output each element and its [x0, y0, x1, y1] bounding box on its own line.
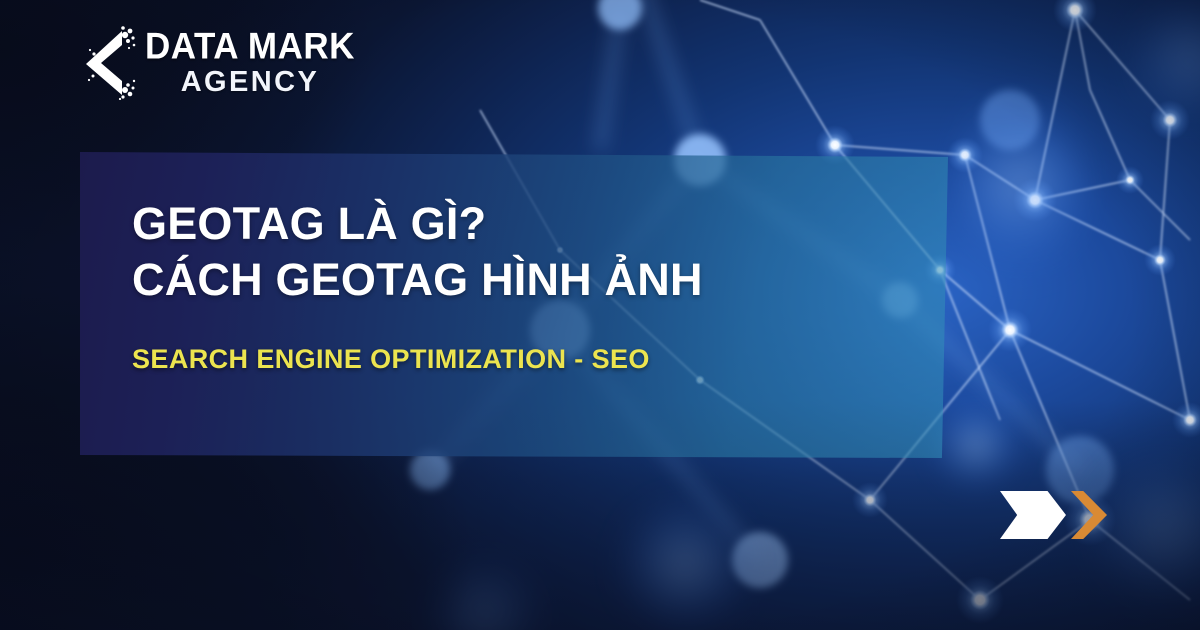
title-line-2: CÁCH GEOTAG HÌNH ẢNH — [132, 252, 918, 308]
title-line-1: GEOTAG LÀ GÌ? — [132, 196, 918, 252]
brand-text: DATA MARK AGENCY — [145, 29, 355, 97]
brand-subname: AGENCY — [181, 68, 319, 97]
headline-panel: GEOTAG LÀ GÌ? CÁCH GEOTAG HÌNH ẢNH SEARC… — [80, 152, 948, 458]
page-title: GEOTAG LÀ GÌ? CÁCH GEOTAG HÌNH ẢNH — [132, 196, 918, 308]
brand-logo[interactable]: DATA MARK AGENCY — [78, 26, 355, 100]
page-subtitle: SEARCH ENGINE OPTIMIZATION - SEO — [132, 344, 918, 375]
headline-panel-content: GEOTAG LÀ GÌ? CÁCH GEOTAG HÌNH ẢNH SEARC… — [132, 196, 918, 375]
brand-name: DATA MARK — [145, 28, 355, 65]
double-chevron-right-icon — [1071, 491, 1107, 539]
seo-banner: DATA MARK AGENCY GEOTAG LÀ GÌ? CÁCH GEOT… — [0, 0, 1200, 630]
chevron-particles-icon — [78, 26, 136, 100]
arrow-decoration — [1000, 491, 1107, 539]
arrow-banner-icon — [1000, 491, 1066, 539]
